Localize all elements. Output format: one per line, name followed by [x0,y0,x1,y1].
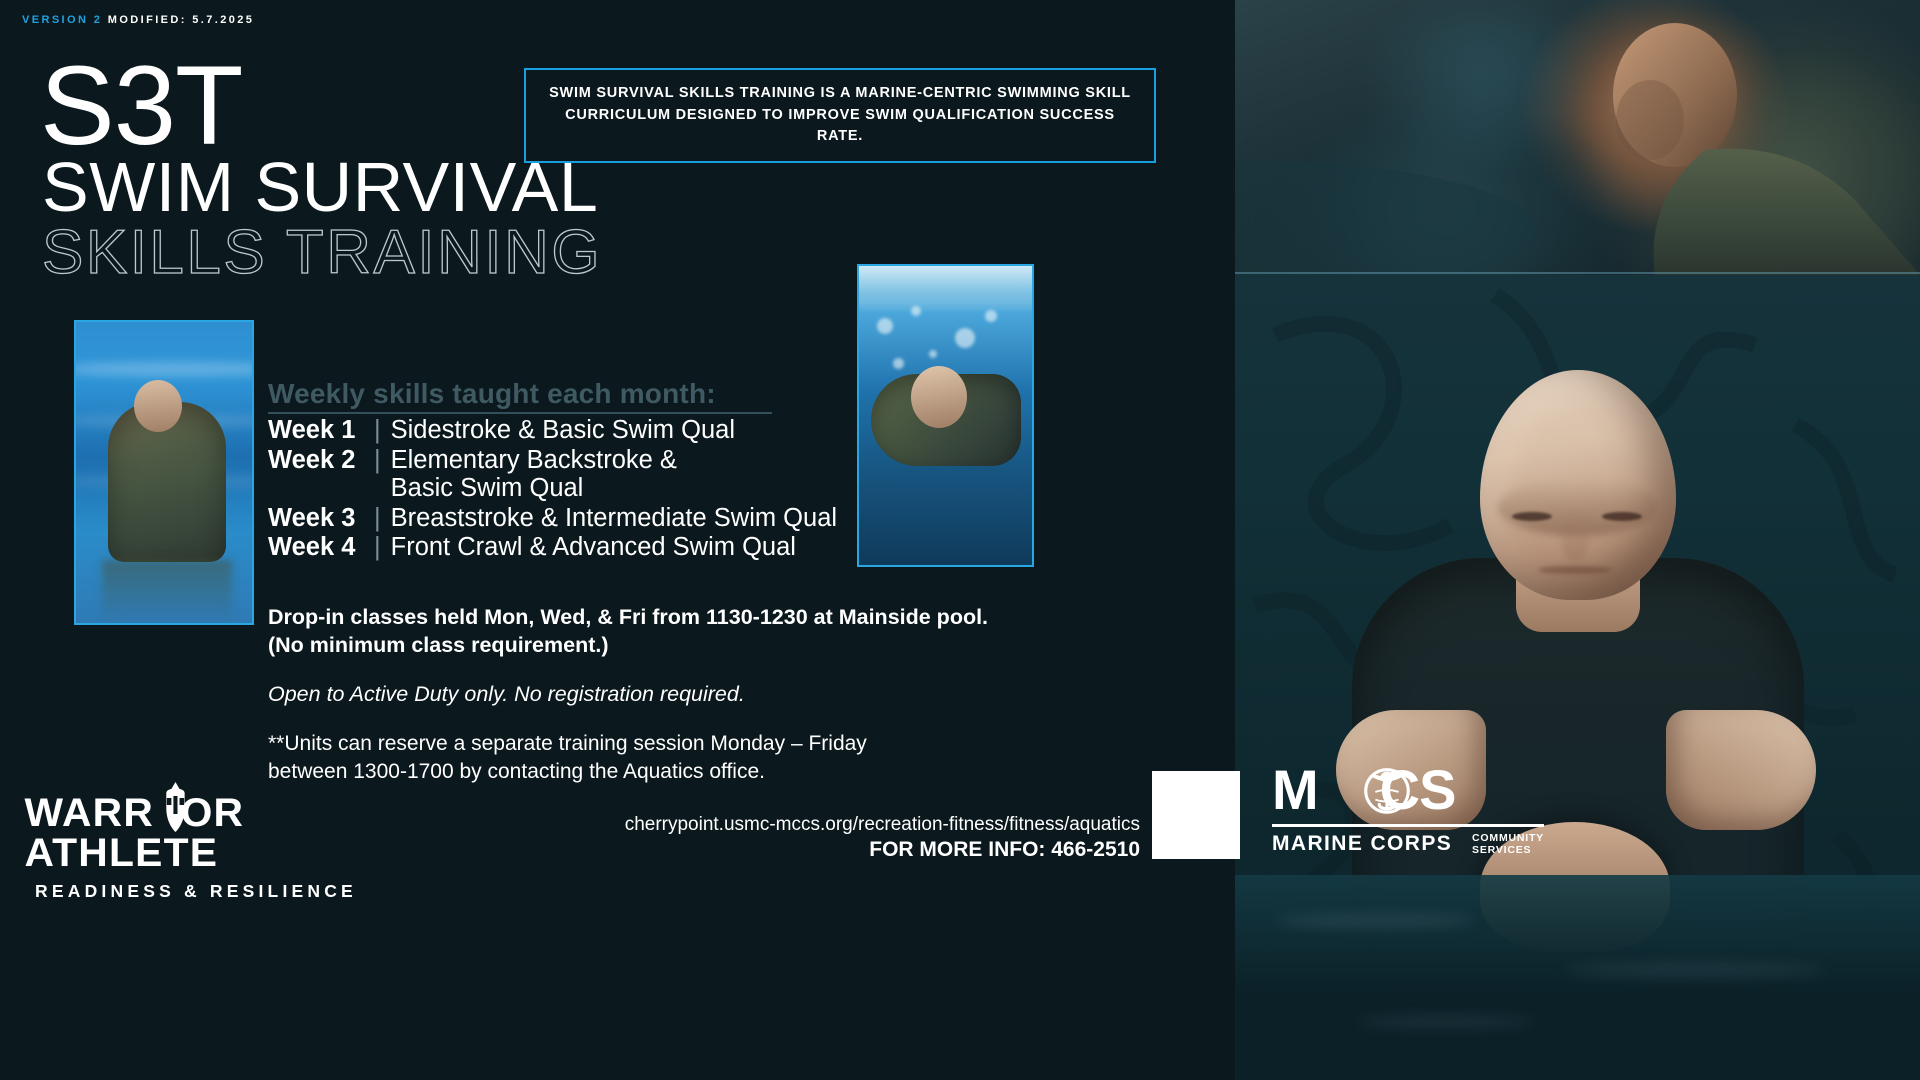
mccs-wordmark: MCS [1272,762,1547,820]
mccs-services-label: SERVICES [1472,844,1531,856]
list-item: Week 2 | Elementary Backstroke & Basic S… [268,446,1028,503]
modified-label: MODIFIED: 5.7.2025 [108,14,255,26]
week-description: Sidestroke & Basic Swim Qual [391,416,735,445]
week-separator: | [374,504,381,533]
weekly-skills-heading: Weekly skills taught each month: [268,378,716,414]
version-label: VERSION 2 [22,14,102,26]
dropin-line-2: (No minimum class requirement.) [268,632,1058,660]
unit-reservation-line-2: between 1300-1700 by contacting the Aqua… [268,758,1028,786]
dropin-line-1: Drop-in classes held Mon, Wed, & Fri fro… [268,604,1058,632]
eligibility-note: Open to Active Duty only. No registratio… [268,682,1058,707]
mccs-wordmark-m: M [1272,758,1318,821]
list-item: Week 1 | Sidestroke & Basic Swim Qual [268,416,1028,445]
mccs-community-services-label: COMMUNITY SERVICES [1472,832,1544,856]
mccs-marine-corps-label: MARINE CORPS [1272,832,1452,856]
program-description-text: SWIM SURVIVAL SKILLS TRAINING IS A MARIN… [548,83,1132,148]
photo-divider [1235,272,1920,274]
eagle-globe-anchor-icon [1358,760,1416,818]
mccs-community-label: COMMUNITY [1472,832,1544,844]
week-description: Breaststroke & Intermediate Swim Qual [391,504,837,533]
weekly-skills-list: Week 1 | Sidestroke & Basic Swim Qual We… [268,416,1028,563]
dropin-schedule-text: Drop-in classes held Mon, Wed, & Fri fro… [268,604,1058,659]
marine-in-water-photo [1235,0,1920,275]
mccs-divider [1272,824,1544,827]
contact-phone: FOR MORE INFO: 466-2510 [0,838,1140,862]
marine-treading-water-photo [74,320,254,625]
week-description-line2: Basic Swim Qual [391,474,677,503]
week-label: Week 2 [268,446,372,475]
qr-code[interactable] [1152,771,1240,859]
page-title-line2: SWIM SURVIVAL [42,152,598,222]
weekly-skills-heading-rule [268,412,772,414]
unit-reservation-line-1: **Units can reserve a separate training … [268,730,1028,758]
week-description: Elementary Backstroke & Basic Swim Qual [391,446,677,503]
week-label: Week 4 [268,533,372,562]
list-item: Week 3 | Breaststroke & Intermediate Swi… [268,504,1028,533]
poster-canvas: VERSION 2 MODIFIED: 5.7.2025 S3T SWIM SU… [0,0,1920,1080]
mccs-subtitle: MARINE CORPS COMMUNITY SERVICES [1272,832,1544,856]
week-separator: | [374,446,381,475]
week-label: Week 1 [268,416,372,445]
marine-rescue-swim-photo [1235,275,1920,1080]
unit-reservation-note: **Units can reserve a separate training … [268,730,1028,787]
list-item: Week 4 | Front Crawl & Advanced Swim Qua… [268,533,1028,562]
week-description-line1: Elementary Backstroke & [391,446,677,474]
website-url[interactable]: cherrypoint.usmc-mccs.org/recreation-fit… [0,814,1140,836]
mccs-logo: MCS MARINE CORPS COMMUNITY SERVICES [1272,762,1547,862]
week-description: Front Crawl & Advanced Swim Qual [391,533,796,562]
page-title-line3: SKILLS TRAINING [42,222,602,284]
week-label: Week 3 [268,504,372,533]
page-title-acronym: S3T [40,50,242,162]
program-description-box: SWIM SURVIVAL SKILLS TRAINING IS A MARIN… [524,68,1156,163]
week-separator: | [374,533,381,562]
week-separator: | [374,416,381,445]
warrior-athlete-tagline: READINESS & RESILIENCE [28,881,364,902]
version-bar: VERSION 2 MODIFIED: 5.7.2025 [22,14,254,26]
